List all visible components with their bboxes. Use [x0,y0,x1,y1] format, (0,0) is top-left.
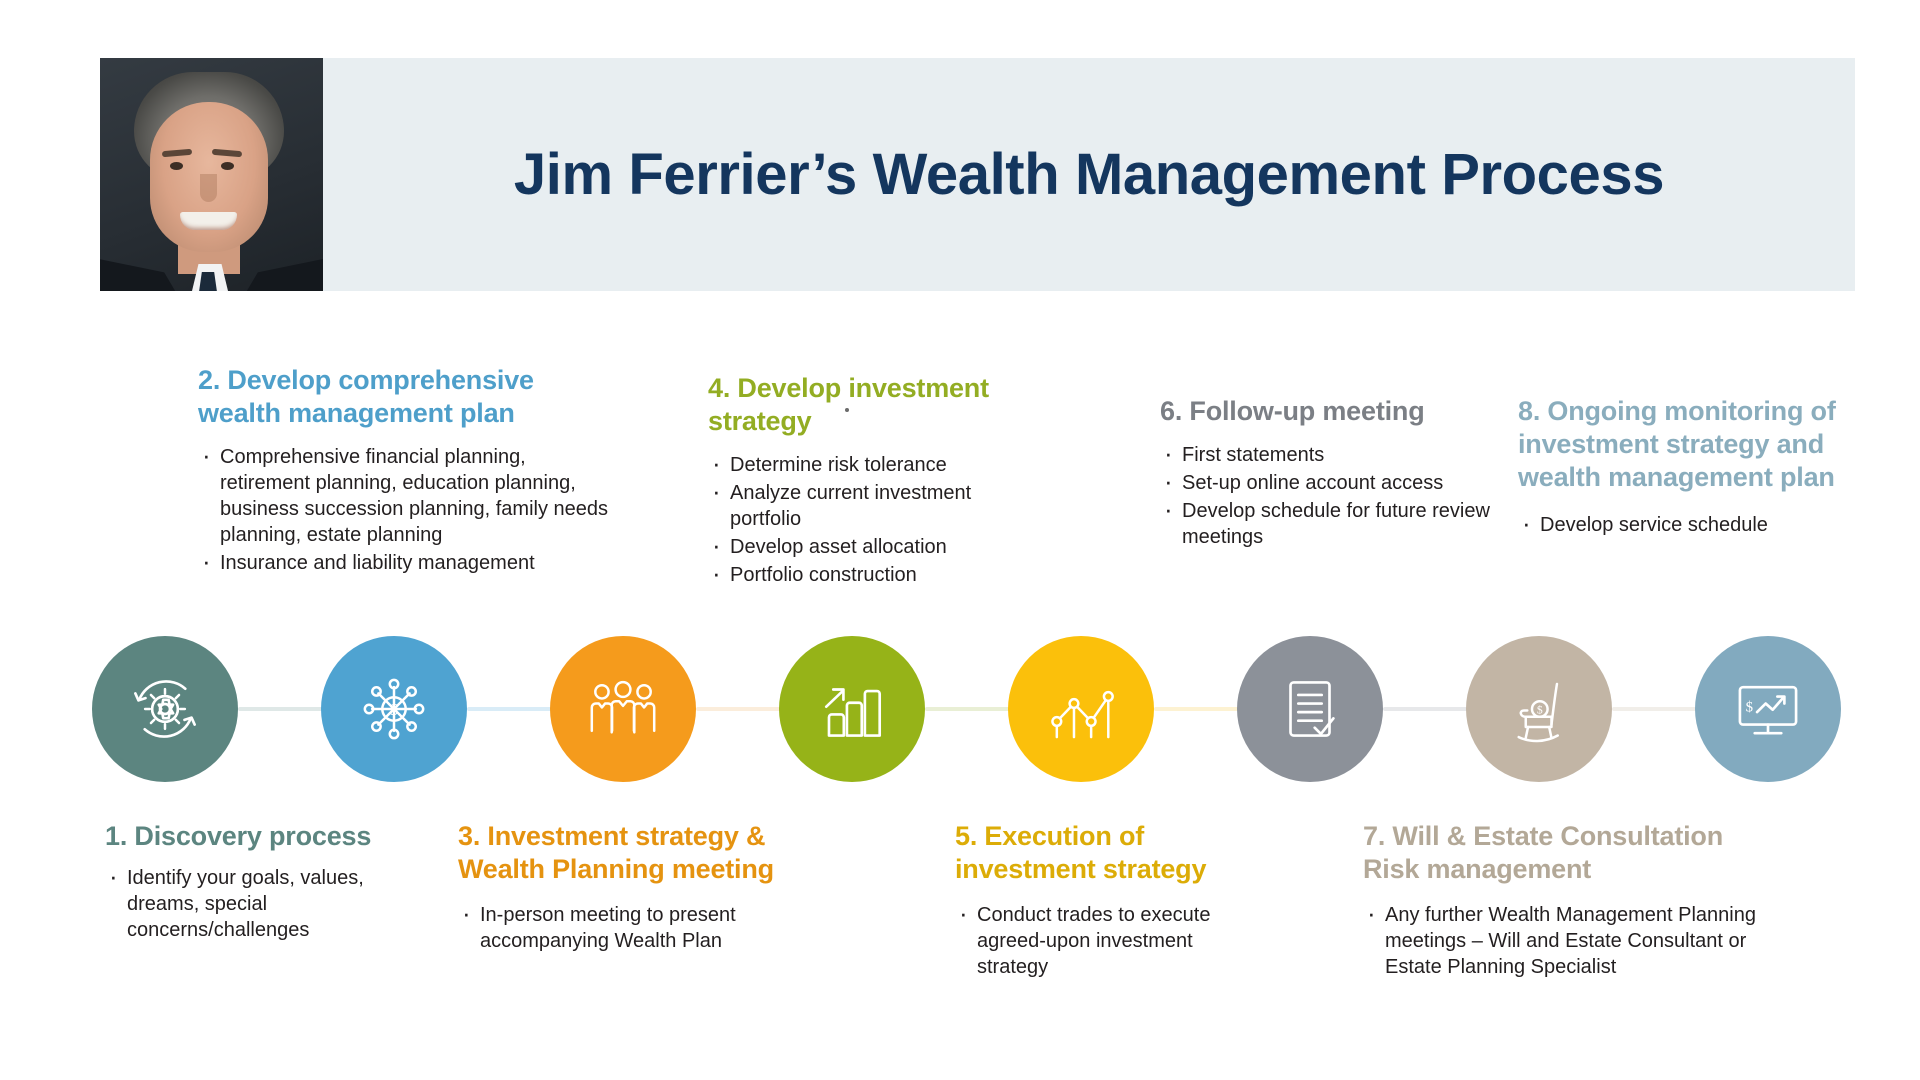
step-heading-6: 6. Follow-up meeting [1160,395,1490,428]
step-node-1[interactable] [92,636,238,782]
document-check-icon [1271,670,1349,748]
svg-text:$: $ [390,700,398,719]
step-heading-3: 3. Investment strategy & Wealth Planning… [458,820,818,886]
step-heading-8: 8. Ongoing monitoring of investment stra… [1518,395,1848,494]
step-block-6: 6. Follow-up meeting First statements Se… [1160,395,1490,552]
people-group-icon [584,670,662,748]
step-bullets-6: First statements Set-up online account a… [1160,442,1490,550]
step-heading-5: 5. Execution of investment strategy [955,820,1255,886]
step-bullets-4: Determine risk tolerance Analyze current… [708,452,1038,588]
step-bullets-3: In-person meeting to present accompanyin… [458,902,818,954]
step-block-2: 2. Develop comprehensive wealth manageme… [198,364,618,578]
list-item: First statements [1160,442,1490,468]
network-dollar-icon: $ [355,670,433,748]
step-node-6[interactable] [1237,636,1383,782]
step-bullets-8: Develop service schedule [1518,512,1848,538]
list-item: Set-up online account access [1160,470,1490,496]
gear-refresh-icon [126,670,204,748]
list-item: Analyze current investment portfolio [708,480,1038,532]
step-heading-1: 1. Discovery process [105,820,415,853]
svg-text:$: $ [1537,704,1543,717]
slide-canvas: Jim Ferrier’s Wealth Management Process [0,0,1920,1080]
list-item: Conduct trades to execute agreed-upon in… [955,902,1255,980]
step-node-5[interactable] [1008,636,1154,782]
list-item: Determine risk tolerance [708,452,1038,478]
step-block-7: 7. Will & Estate Consultation Risk manag… [1363,820,1783,982]
step-block-5: 5. Execution of investment strategy Cond… [955,820,1255,982]
list-item: Any further Wealth Management Planning m… [1363,902,1783,980]
list-item: In-person meeting to present accompanyin… [458,902,818,954]
step-heading-7: 7. Will & Estate Consultation Risk manag… [1363,820,1783,886]
list-item: Develop service schedule [1518,512,1848,538]
step-block-3: 3. Investment strategy & Wealth Planning… [458,820,818,956]
list-item: Comprehensive financial planning, retire… [198,444,618,548]
step-block-8: 8. Ongoing monitoring of investment stra… [1518,395,1848,540]
step-heading-2: 2. Develop comprehensive wealth manageme… [198,364,618,430]
step-block-4: 4. Develop investment strategy Determine… [708,372,1038,590]
list-item: Develop schedule for future review meeti… [1160,498,1490,550]
list-item: Identify your goals, values, dreams, spe… [105,865,415,943]
step-node-2[interactable]: $ [321,636,467,782]
step-node-8[interactable]: $ [1695,636,1841,782]
step-node-4[interactable] [779,636,925,782]
step-bullets-1: Identify your goals, values, dreams, spe… [105,865,415,943]
list-item: Develop asset allocation [708,534,1038,560]
decorative-dot [845,408,849,412]
list-item: Portfolio construction [708,562,1038,588]
step-block-1: 1. Discovery process Identify your goals… [105,820,415,945]
step-bullets-5: Conduct trades to execute agreed-upon in… [955,902,1255,980]
monitor-dollar-trend-icon: $ [1729,670,1807,748]
step-heading-4: 4. Develop investment strategy [708,372,1038,438]
step-node-3[interactable] [550,636,696,782]
svg-text:$: $ [1746,699,1753,715]
step-bullets-2: Comprehensive financial planning, retire… [198,444,618,576]
step-node-7[interactable]: $ [1466,636,1612,782]
bar-chart-growth-icon [813,670,891,748]
line-chart-icon [1042,670,1120,748]
rocking-chair-dollar-icon: $ [1500,670,1578,748]
list-item: Insurance and liability management [198,550,618,576]
step-bullets-7: Any further Wealth Management Planning m… [1363,902,1783,980]
